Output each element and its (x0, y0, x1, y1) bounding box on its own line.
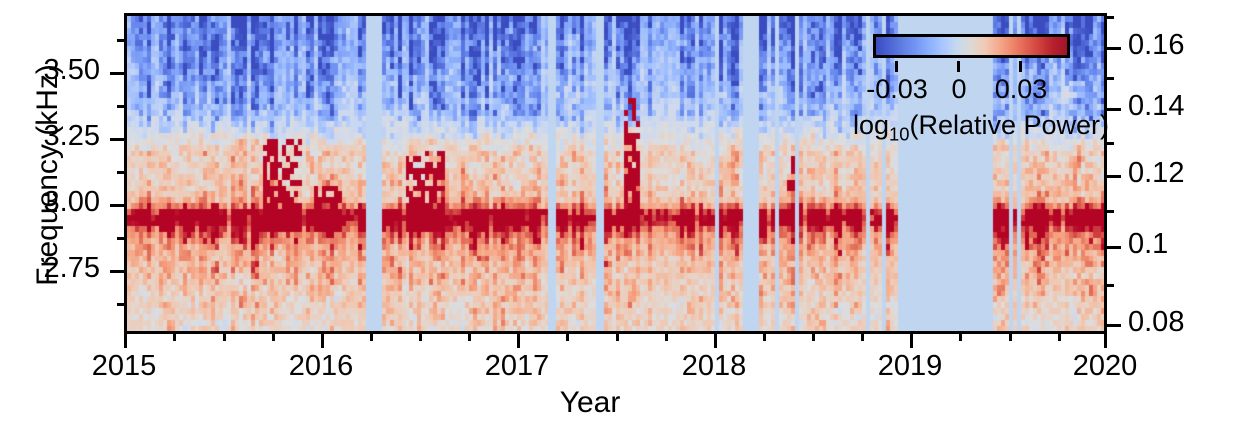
colorbar-title-log: log (853, 110, 889, 140)
yr-ticklabel-012: 0.12 (1128, 157, 1184, 190)
x-ticklabel-2015: 2015 (44, 350, 204, 383)
x-tick-minor (665, 334, 668, 341)
y-tick-major-300 (110, 204, 124, 207)
yr-ticklabel-014: 0.14 (1128, 90, 1184, 123)
y-axis-label-left: Frequency (kHz) (31, 25, 65, 325)
yr-ticklabel-016: 0.16 (1128, 29, 1184, 62)
colorbar-tick-1 (957, 61, 960, 72)
x-tick-minor (223, 334, 226, 341)
x-tick-minor (370, 334, 373, 341)
colorbar-title: log10(Relative Power) (853, 110, 1093, 145)
x-tick-minor (173, 334, 176, 341)
x-tick-minor (566, 334, 569, 341)
x-tick-minor (1009, 334, 1012, 341)
x-axis-label: Year (0, 386, 1180, 420)
x-ticklabel-2018: 2018 (634, 350, 794, 383)
colorbar-title-rest: (Relative Power) (909, 110, 1109, 140)
y-tick-minor-4 (117, 303, 124, 306)
x-tick-minor (812, 334, 815, 341)
x-tick-major-2020 (1104, 334, 1107, 348)
yr-tick-minor-3 (1107, 210, 1114, 213)
colorbar-gradient (873, 34, 1070, 58)
y-tick-minor-0 (117, 39, 124, 42)
x-ticklabel-2019: 2019 (830, 350, 990, 383)
yr-ticklabel-010: 0.1 (1128, 228, 1168, 261)
yr-tick-major-010 (1107, 246, 1121, 249)
yr-tick-minor-2 (1107, 142, 1114, 145)
x-ticklabel-2016: 2016 (241, 350, 401, 383)
x-tick-major-2018 (714, 334, 717, 348)
x-tick-minor (1058, 334, 1061, 341)
yr-ticklabel-008: 0.08 (1128, 306, 1184, 339)
y-tick-major-325 (110, 138, 124, 141)
x-tick-minor (861, 334, 864, 341)
colorbar-title-base: 10 (889, 123, 909, 144)
x-tick-major-2015 (124, 334, 127, 348)
x-tick-minor (763, 334, 766, 341)
y-tick-minor-2 (117, 171, 124, 174)
x-tick-minor (272, 334, 275, 341)
colorbar-ticklabel-2: 0.03 (966, 74, 1076, 105)
yr-tick-minor-0 (1107, 16, 1114, 19)
yr-tick-major-012 (1107, 175, 1121, 178)
y-tick-minor-1 (117, 105, 124, 108)
y-tick-major-275 (110, 270, 124, 273)
x-tick-minor (468, 334, 471, 341)
yr-tick-major-016 (1107, 47, 1121, 50)
y-tick-major-350 (110, 72, 124, 75)
colorbar-tick-2 (1019, 61, 1022, 72)
yr-tick-major-008 (1107, 324, 1121, 327)
x-tick-minor (616, 334, 619, 341)
y-tick-minor-3 (117, 237, 124, 240)
figure-root: -0.03 0 0.03 log10(Relative Power) 3.50 … (0, 0, 1241, 427)
x-tick-major-2019 (910, 334, 913, 348)
x-tick-major-2017 (517, 334, 520, 348)
x-tick-minor (959, 334, 962, 341)
yr-tick-minor-4 (1107, 284, 1114, 287)
x-tick-minor (419, 334, 422, 341)
colorbar-tick-0 (895, 61, 898, 72)
x-tick-major-2016 (321, 334, 324, 348)
colorbar-legend: -0.03 0 0.03 log10(Relative Power) (873, 34, 1070, 58)
x-ticklabel-2017: 2017 (437, 350, 597, 383)
yr-tick-minor-1 (1107, 77, 1114, 80)
x-ticklabel-2020: 2020 (1025, 350, 1185, 383)
yr-tick-major-014 (1107, 108, 1121, 111)
